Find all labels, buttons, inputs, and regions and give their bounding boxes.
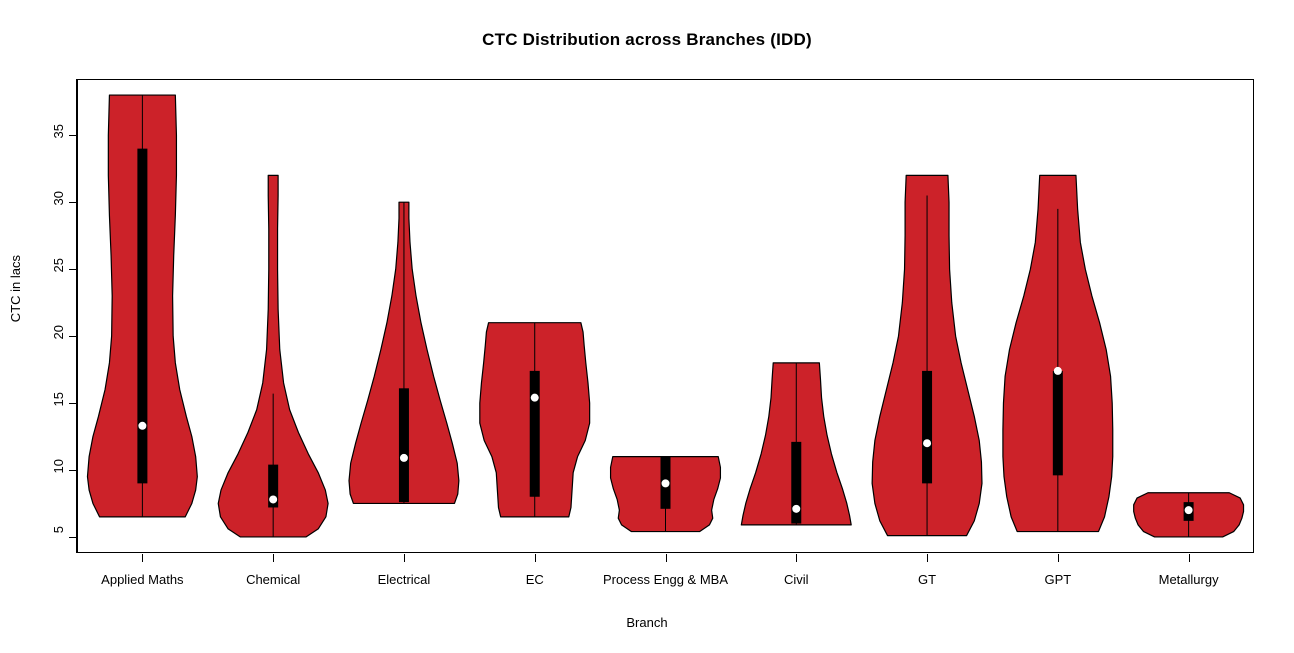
x-tick-label-gt: GT	[918, 572, 936, 587]
x-tick-mark	[1058, 554, 1059, 562]
median-point	[400, 454, 408, 462]
x-tick-label-civil: Civil	[784, 572, 809, 587]
x-tick-label-process-engg-mba: Process Engg & MBA	[603, 572, 728, 587]
iqr-box	[399, 388, 409, 502]
median-point	[923, 439, 931, 447]
y-tick-label: 20	[52, 325, 65, 339]
chart-title: CTC Distribution across Branches (IDD)	[0, 30, 1294, 50]
median-point	[1054, 367, 1062, 375]
x-axis-title: Branch	[0, 615, 1294, 630]
x-tick-mark	[666, 554, 667, 562]
x-tick-label-ec: EC	[526, 572, 544, 587]
x-tick-mark	[796, 554, 797, 562]
violin-ec	[480, 323, 590, 517]
median-point	[662, 479, 670, 487]
y-tick-label: 15	[52, 392, 65, 406]
violin-electrical	[349, 202, 459, 503]
iqr-box	[1053, 371, 1063, 475]
x-tick-mark	[1189, 554, 1190, 562]
x-tick-mark	[535, 554, 536, 562]
iqr-box	[137, 149, 147, 484]
x-tick-mark	[404, 554, 405, 562]
x-tick-label-electrical: Electrical	[378, 572, 431, 587]
iqr-box	[922, 371, 932, 483]
violin-civil	[741, 363, 851, 525]
y-tick-label: 30	[52, 191, 65, 205]
violin-series-layer	[77, 79, 1254, 553]
median-point	[1185, 506, 1193, 514]
median-point	[531, 394, 539, 402]
x-tick-mark	[273, 554, 274, 562]
x-tick-mark	[927, 554, 928, 562]
x-tick-label-applied-maths: Applied Maths	[101, 572, 183, 587]
y-tick-label: 5	[52, 526, 65, 533]
violin-applied-maths	[87, 95, 197, 517]
median-point	[269, 495, 277, 503]
x-tick-label-gpt: GPT	[1044, 572, 1071, 587]
iqr-box	[530, 371, 540, 497]
y-tick-label: 25	[52, 258, 65, 272]
violin-gpt	[1003, 175, 1113, 531]
violin-chart-figure: CTC Distribution across Branches (IDD) C…	[0, 0, 1294, 653]
plot-area	[77, 79, 1254, 553]
violin-metallurgy	[1134, 493, 1244, 537]
median-point	[792, 505, 800, 513]
x-tick-label-chemical: Chemical	[246, 572, 300, 587]
x-tick-mark	[142, 554, 143, 562]
violin-process-engg-mba	[611, 457, 721, 532]
y-tick-label: 10	[52, 459, 65, 473]
violin-chemical	[218, 175, 328, 537]
x-tick-label-metallurgy: Metallurgy	[1159, 572, 1219, 587]
y-tick-label: 35	[52, 124, 65, 138]
median-point	[138, 422, 146, 430]
violin-gt	[872, 175, 982, 535]
y-axis: 5101520253035	[0, 0, 77, 653]
